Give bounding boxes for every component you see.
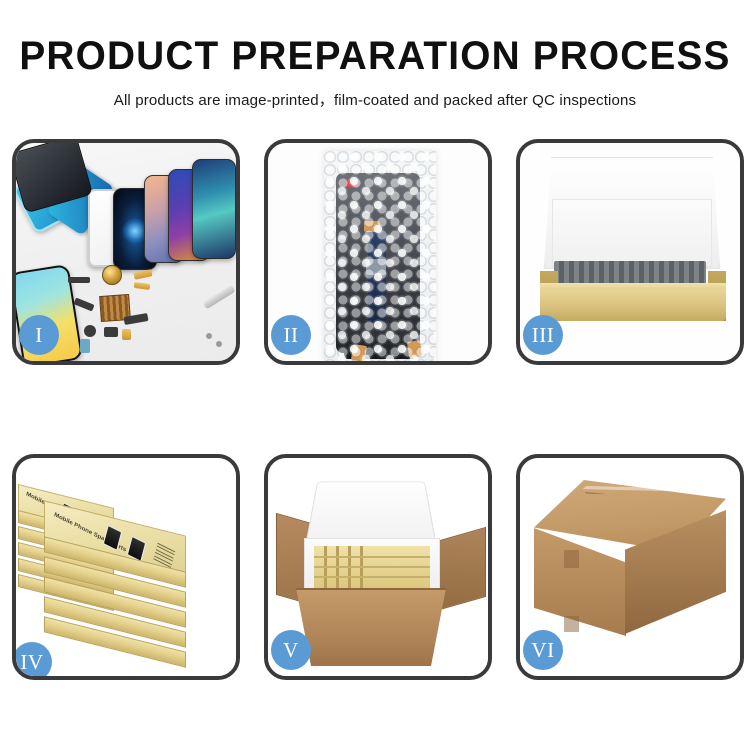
product-preparation-infographic: PRODUCT PREPARATION PROCESS All products…	[0, 0, 750, 750]
step-panel-4: Mobile Phone Spare Parts Mobile Phone Sp…	[12, 454, 240, 680]
carton-body	[296, 588, 446, 666]
foam-cooler-lid	[306, 481, 437, 542]
step-panel-1: I	[12, 139, 240, 365]
part-sensor	[80, 339, 90, 353]
part-connector	[68, 277, 90, 283]
bubble-wrap-pouch	[324, 151, 436, 361]
step-badge-5: V	[271, 630, 311, 670]
part-button	[84, 325, 96, 337]
step-panel-5: V	[264, 454, 492, 680]
step-badge-1: I	[19, 315, 59, 355]
foam-pad-white	[552, 199, 712, 267]
box-front-gold	[540, 289, 726, 321]
part-screw-1	[206, 333, 212, 339]
step-badge-2: II	[271, 315, 311, 355]
step-4-photo: Mobile Phone Spare Parts Mobile Phone Sp…	[16, 458, 236, 676]
process-step-grid: I	[0, 139, 750, 684]
step-panel-2: II	[264, 139, 492, 365]
speaker-coil	[102, 265, 122, 285]
carton-tab-upper	[564, 550, 579, 568]
step-badge-4: IV	[12, 642, 52, 680]
phone-display-teal	[192, 159, 236, 259]
carton-tab-lower	[564, 616, 579, 632]
part-screw-2	[216, 341, 222, 347]
part-sim-tray	[122, 329, 131, 340]
header: PRODUCT PREPARATION PROCESS All products…	[0, 0, 750, 110]
page-subtitle: All products are image-printed，film-coat…	[4, 88, 747, 110]
bubble-texture-outer	[324, 151, 436, 361]
step-badge-6: VI	[523, 630, 563, 670]
step-panel-6: VI	[516, 454, 744, 680]
page-title: PRODUCT PREPARATION PROCESS	[11, 33, 739, 79]
step-panel-3: III	[516, 139, 744, 365]
gold-boxes-inside	[314, 546, 430, 588]
part-vibrator	[104, 327, 118, 337]
step-badge-3: III	[523, 315, 563, 355]
